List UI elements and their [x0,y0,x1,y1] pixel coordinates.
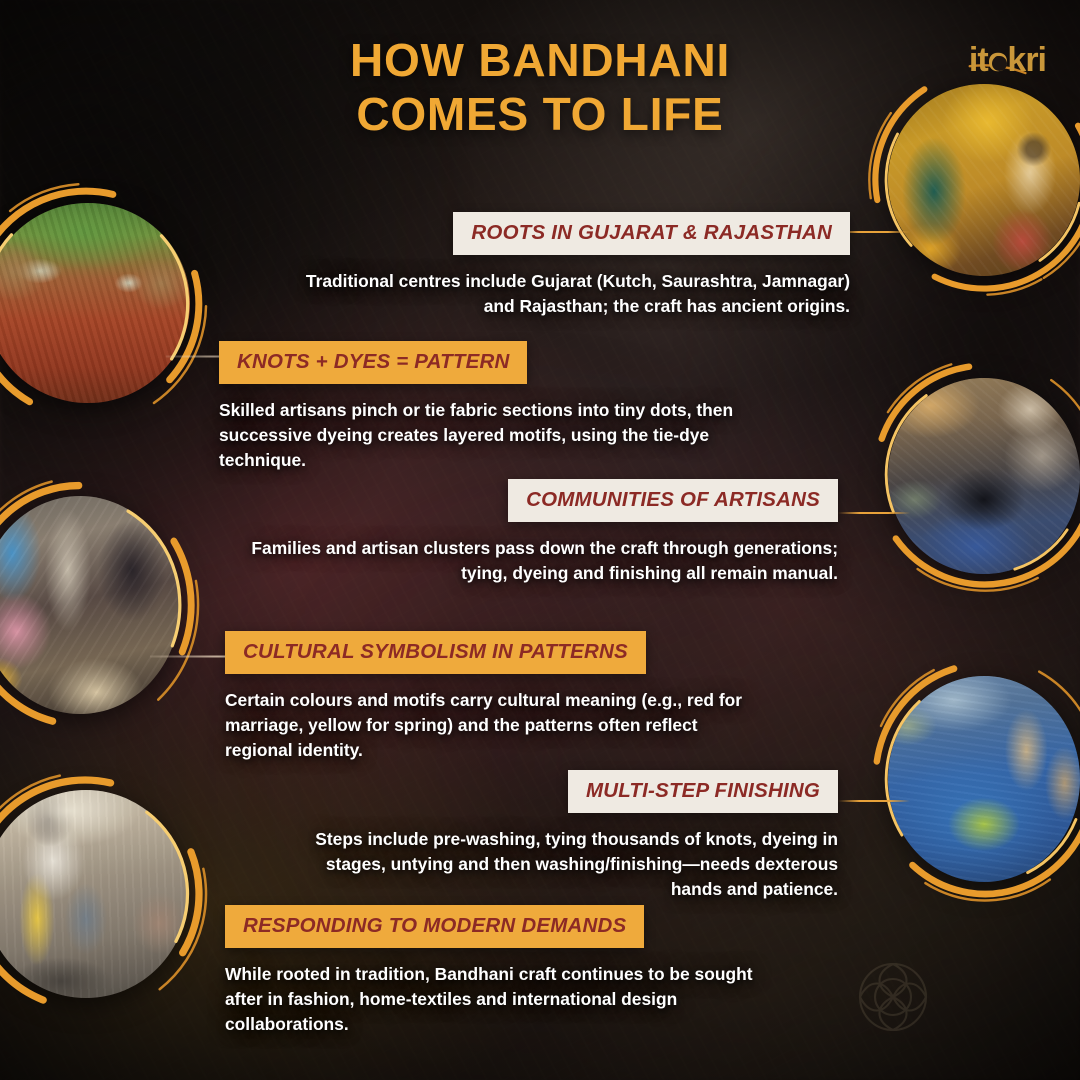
section-modern-demands: RESPONDING TO MODERN DEMANDS While roote… [225,905,785,1037]
brand-logo-dot [992,56,1007,71]
brand-logo[interactable]: itokri [938,38,1046,82]
connector-line-3 [838,512,910,514]
section-roots: ROOTS IN GUJARAT & RAJASTHAN Traditional… [250,212,850,319]
section-heading-knots-dyes: KNOTS + DYES = PATTERN [219,341,527,384]
section-body-knots-dyes: Skilled artisans pinch or tie fabric sec… [219,398,749,473]
infographic-canvas: HOW BANDHANI COMES TO LIFE itokri [0,0,1080,1080]
section-communities: COMMUNITIES OF ARTISANS Families and art… [240,479,838,586]
photo-women-village-tying [0,496,180,714]
section-body-modern-demands: While rooted in tradition, Bandhani craf… [225,962,770,1037]
photo-artisan-dyeing-tub [888,378,1080,574]
photo-hands-tying-red [0,203,190,403]
section-knots-dyes: KNOTS + DYES = PATTERN Skilled artisans … [219,341,779,473]
section-body-communities: Families and artisan clusters pass down … [240,536,838,586]
section-heading-modern-demands: RESPONDING TO MODERN DEMANDS [225,905,644,948]
section-body-roots: Traditional centres include Gujarat (Kut… [274,269,850,319]
page-title-line-1: HOW BANDHANI [350,34,730,86]
connector-line-5 [838,800,910,802]
section-heading-roots: ROOTS IN GUJARAT & RAJASTHAN [453,212,850,255]
section-heading-multi-step-finishing: MULTI-STEP FINISHING [568,770,838,813]
section-heading-communities: COMMUNITIES OF ARTISANS [508,479,838,522]
section-cultural-symbolism: CULTURAL SYMBOLISM IN PATTERNS Certain c… [225,631,785,763]
section-body-cultural-symbolism: Certain colours and motifs carry cultura… [225,688,765,763]
section-multi-step-finishing: MULTI-STEP FINISHING Steps include pre-w… [258,770,838,902]
section-heading-cultural-symbolism: CULTURAL SYMBOLISM IN PATTERNS [225,631,646,674]
connector-line-4 [150,656,228,658]
page-title: HOW BANDHANI COMES TO LIFE [0,34,1080,142]
photo-artisan-yellow-yarn [0,790,188,998]
photo-indigo-vat [888,676,1080,882]
section-body-multi-step-finishing: Steps include pre-washing, tying thousan… [298,827,838,902]
page-title-line-2: COMES TO LIFE [0,88,1080,142]
